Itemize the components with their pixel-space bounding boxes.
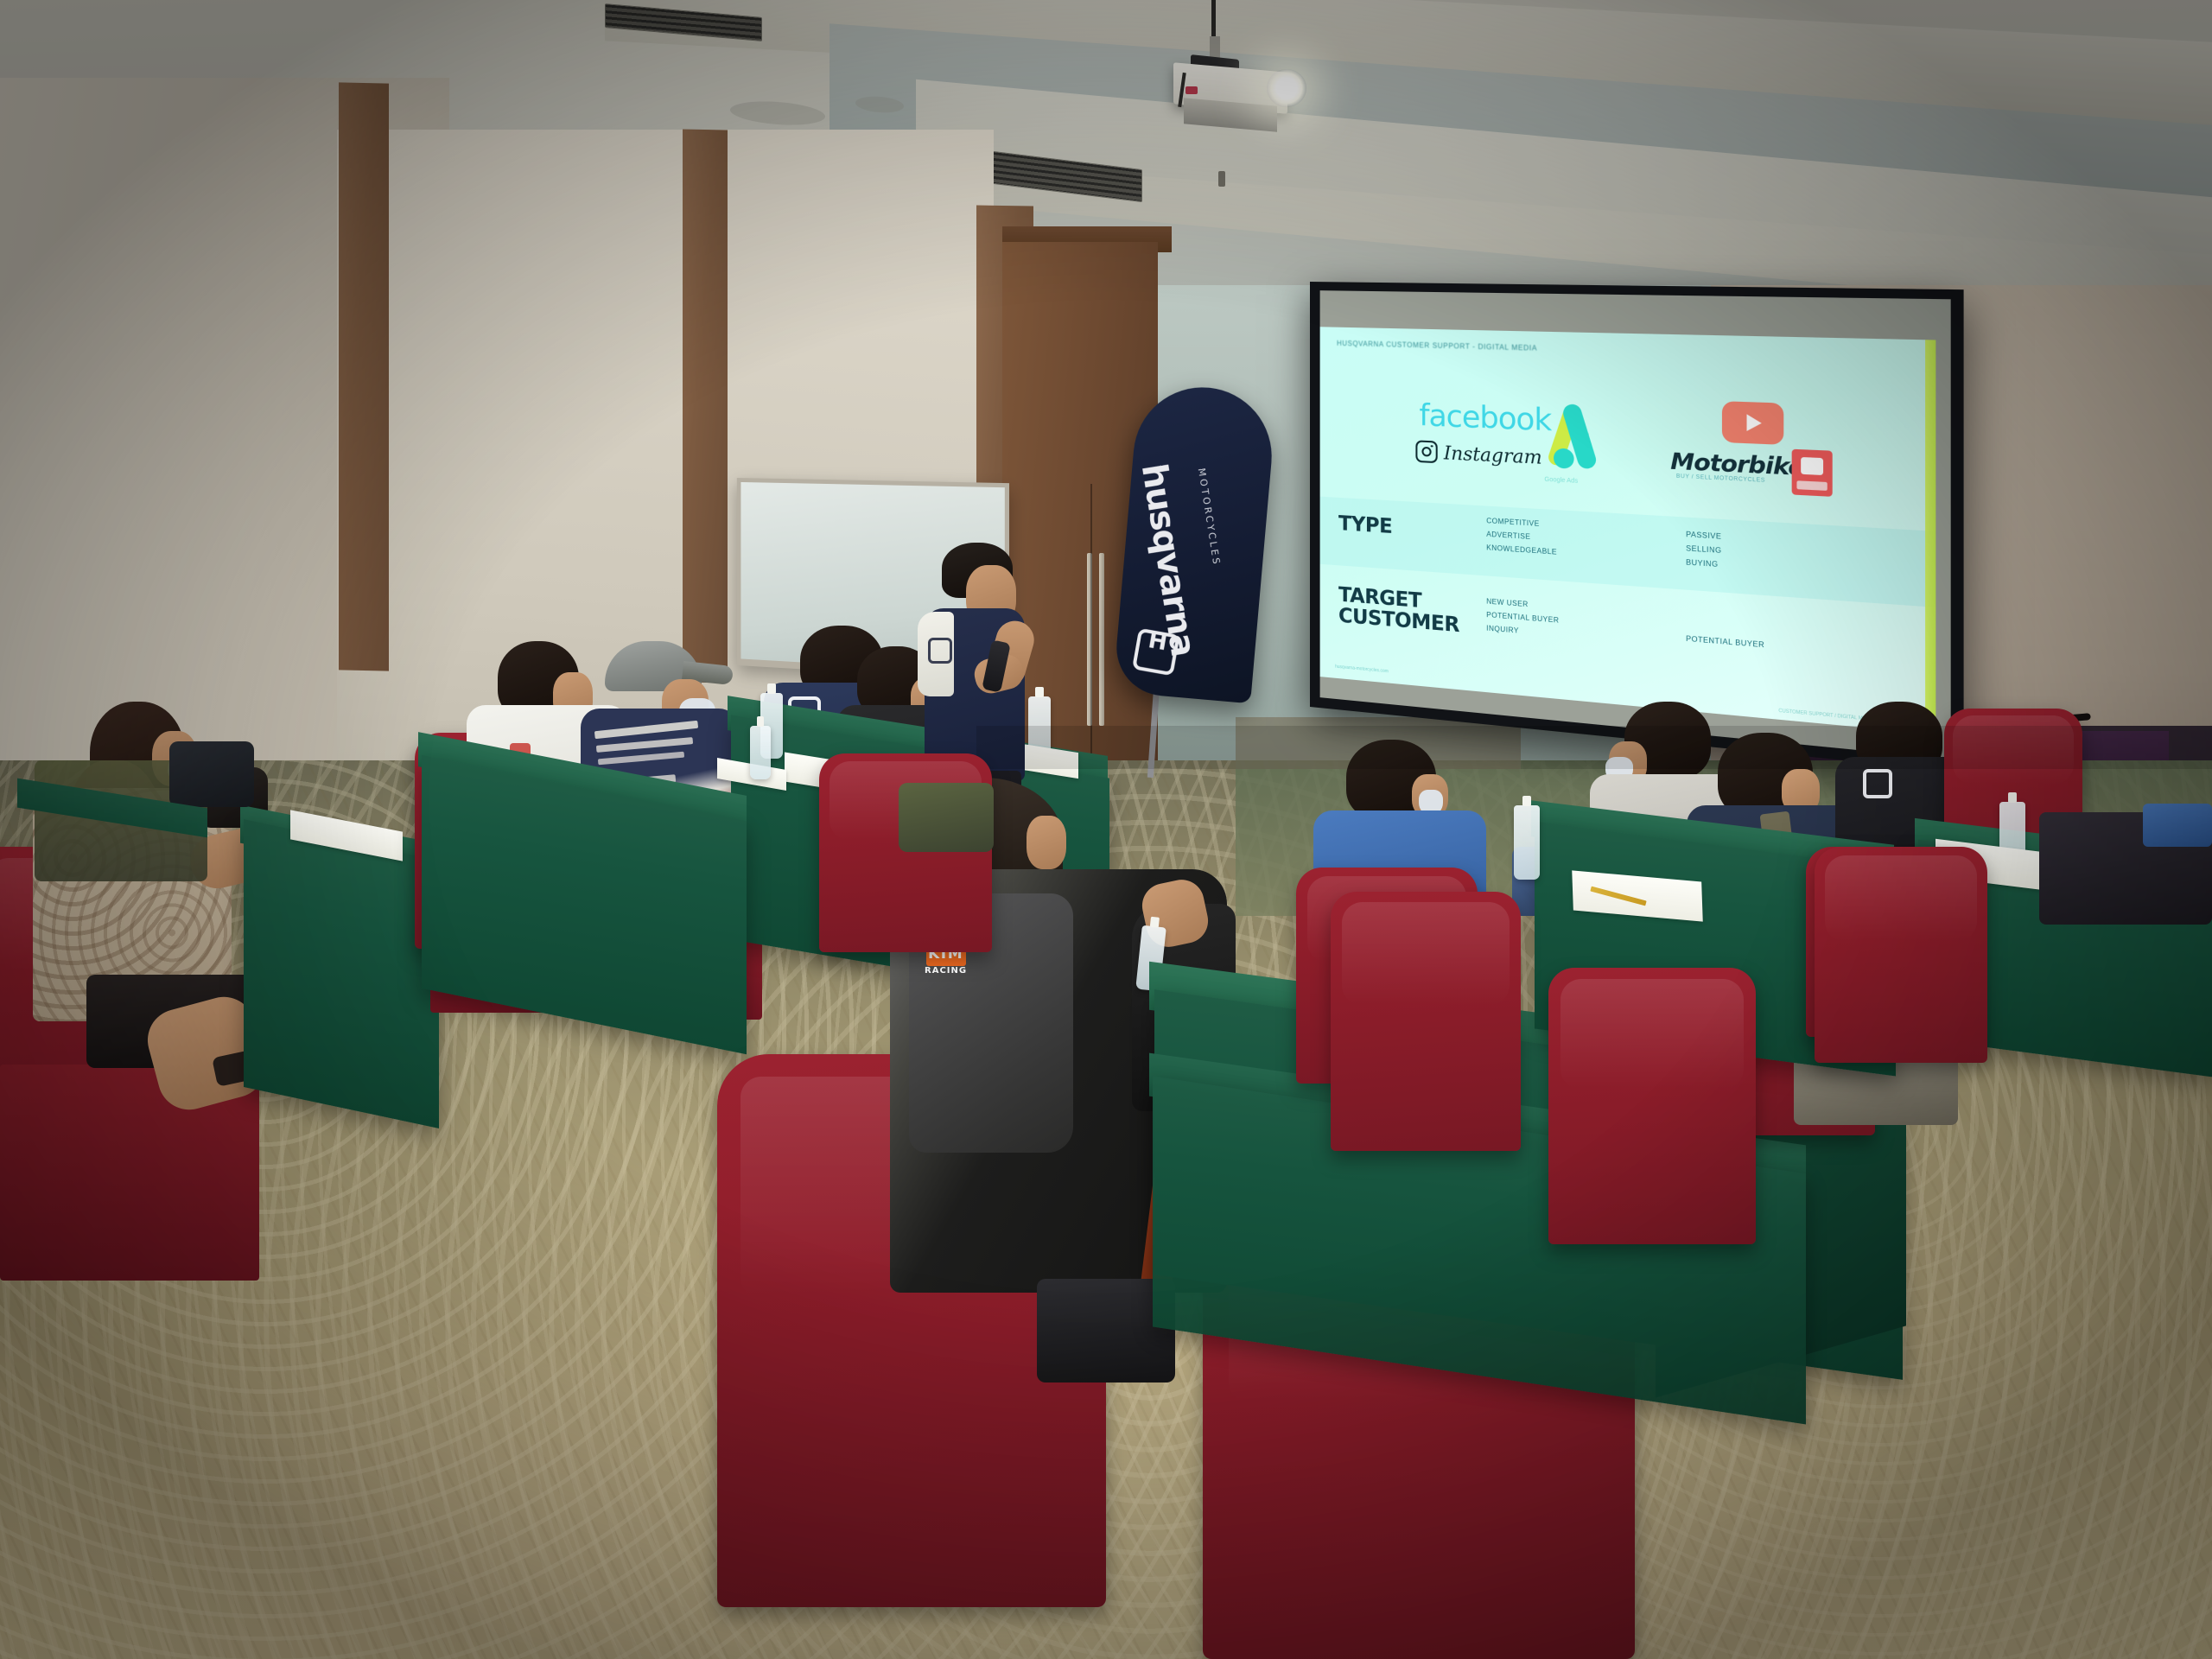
instagram-label: Instagram (1444, 442, 1542, 467)
slide-type-left-items: COMPETITIVE ADVERTISE KNOWLEDGEABLE (1486, 515, 1557, 559)
banner-subtitle-text: MOTORCYCLES (1196, 467, 1223, 568)
wall-pillar-left (339, 82, 389, 671)
chair[interactable] (1548, 968, 1756, 1244)
water-bottle[interactable] (1514, 805, 1540, 880)
slide-header-text: HUSQVARNA CUSTOMER SUPPORT - DIGITAL MED… (1337, 340, 1537, 353)
wall-floor-shadow (976, 726, 2212, 769)
door-handle-right[interactable] (1099, 553, 1104, 726)
avatar (1027, 816, 1066, 869)
husqvarna-shield-icon (1132, 628, 1180, 677)
slide-footer-left: husqvarna-motorcycles.com (1335, 664, 1389, 675)
ktm-racing-text: RACING (925, 966, 967, 976)
target-right-0: POTENTIAL BUYER (1686, 632, 1764, 652)
avatar (2143, 804, 2212, 847)
slide-type-right-items: PASSIVE SELLING BUYING (1686, 528, 1721, 572)
presentation-slide: HUSQVARNA CUSTOMER SUPPORT - DIGITAL MED… (1320, 327, 1936, 734)
water-bottle[interactable] (750, 726, 771, 779)
slide-target-right-items: POTENTIAL BUYER (1686, 632, 1764, 652)
slide-logo-row: facebook Instagram Google Ads Motorbike … (1320, 391, 1936, 519)
camouflage-bag (899, 783, 994, 852)
wall-pillar-mid (683, 130, 728, 683)
youtube-logo (1722, 401, 1783, 445)
projector-lens-icon (1267, 69, 1306, 107)
slide-row-label-type: TYPE (1338, 513, 1392, 537)
chair[interactable] (1815, 847, 1987, 1063)
slide-target-left-items: NEW USER POTENTIAL BUYER INQUIRY (1486, 595, 1559, 641)
google-ads-dot (1554, 448, 1574, 468)
table (244, 819, 439, 1128)
slide-row-label-target: TARGET CUSTOMER (1338, 584, 1459, 636)
mudah-logo (1792, 449, 1833, 497)
husqvarna-shield-icon (928, 638, 952, 664)
husqvarna-shield-icon (1863, 769, 1892, 798)
handbag (169, 741, 254, 807)
instagram-camera-icon (1415, 440, 1437, 463)
facebook-logo: facebook (1419, 397, 1551, 438)
meeting-room-photo: HUSQVARNA CUSTOMER SUPPORT - DIGITAL MED… (0, 0, 2212, 1659)
chair[interactable] (1331, 892, 1521, 1151)
google-ads-label: Google Ads (1544, 477, 1578, 485)
type-right-2: BUYING (1686, 556, 1721, 572)
google-ads-logo: Google Ads (1547, 401, 1605, 476)
instagram-logo: Instagram (1415, 440, 1541, 468)
sprinkler-head-icon (1218, 171, 1225, 187)
projection-screen: HUSQVARNA CUSTOMER SUPPORT - DIGITAL MED… (1310, 282, 1964, 772)
projector-connector (1185, 86, 1198, 94)
